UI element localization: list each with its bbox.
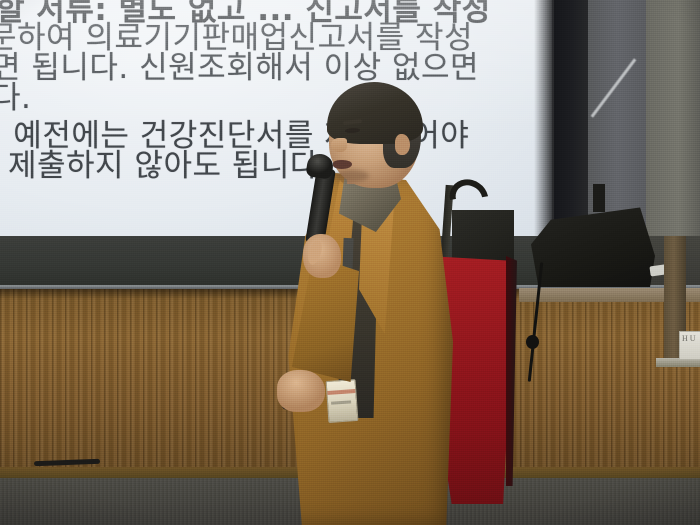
badge-stripe-primary — [327, 389, 355, 395]
screen-right-shadow — [534, 0, 554, 250]
presenter-nose — [331, 138, 347, 152]
cable-knot — [526, 335, 539, 349]
presenter-lower-hand — [277, 370, 325, 412]
slide-line-3: 면 됩니다. 신원조회해서 이상 없으면 — [0, 42, 479, 87]
wall-sign-text: H U — [682, 334, 696, 343]
name-badge — [326, 379, 359, 423]
presenter-hair — [327, 82, 423, 144]
presenter-ear — [395, 134, 410, 155]
dark-pillar — [552, 0, 588, 250]
wall-sign: H U — [679, 331, 700, 360]
photograph-scene: 할 서류: 별도 없고 ... 신고서를 작성 문하여 의료기기판매업신고서를 … — [0, 0, 700, 525]
badge-stripe-secondary — [331, 400, 351, 404]
presenter — [255, 88, 480, 525]
presenter-chin-shadow — [335, 170, 369, 182]
far-pillar — [646, 0, 700, 250]
monitor-stalk — [593, 184, 605, 212]
